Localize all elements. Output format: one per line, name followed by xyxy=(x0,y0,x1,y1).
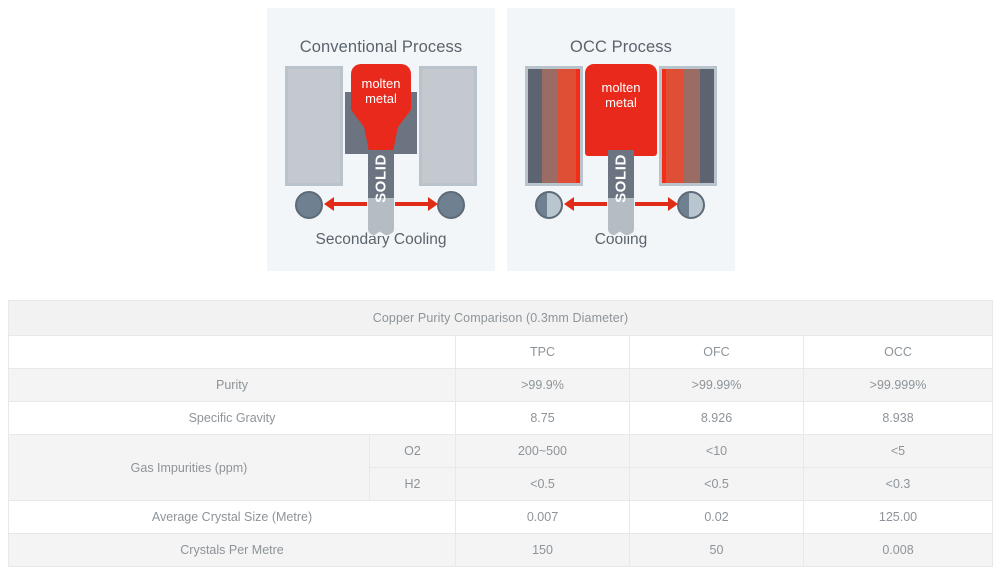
sub-row-label-h2: H2 xyxy=(370,468,456,501)
cell-occ: <5 xyxy=(804,435,993,468)
row-label: Crystals Per Metre xyxy=(9,534,456,567)
cooling-roller-left-icon xyxy=(295,191,323,219)
table-row: Specific Gravity 8.75 8.926 8.938 xyxy=(9,402,993,435)
molten-label-line2: metal xyxy=(605,95,637,110)
molten-metal-pool-occ: molten metal xyxy=(585,64,657,156)
row-label-gas-impurities: Gas Impurities (ppm) xyxy=(9,435,370,501)
arrow-left-icon xyxy=(573,202,607,206)
cell-ofc: >99.99% xyxy=(630,369,804,402)
cell-tpc: <0.5 xyxy=(456,468,630,501)
molten-label-line2: metal xyxy=(365,91,397,106)
column-header-tpc: TPC xyxy=(456,336,630,369)
cell-tpc: 200~500 xyxy=(456,435,630,468)
heated-mold-block-left xyxy=(525,66,583,186)
cell-occ: >99.999% xyxy=(804,369,993,402)
cell-occ: 125.00 xyxy=(804,501,993,534)
crucible-block-right xyxy=(419,66,477,186)
cell-tpc: >99.9% xyxy=(456,369,630,402)
table-row: Gas Impurities (ppm) O2 200~500 <10 <5 xyxy=(9,435,993,468)
molten-label-line1: molten xyxy=(361,76,400,91)
heated-mold-block-right xyxy=(659,66,717,186)
cooling-rollers-conventional xyxy=(267,191,495,225)
molten-label-line1: molten xyxy=(601,80,640,95)
column-header-occ: OCC xyxy=(804,336,993,369)
cell-tpc: 0.007 xyxy=(456,501,630,534)
cell-ofc: 0.02 xyxy=(630,501,804,534)
cooling-rollers-occ xyxy=(507,191,735,225)
row-label: Average Crystal Size (Metre) xyxy=(9,501,456,534)
crucible-block-left xyxy=(285,66,343,186)
cell-tpc: 8.75 xyxy=(456,402,630,435)
cell-occ: 8.938 xyxy=(804,402,993,435)
row-label: Specific Gravity xyxy=(9,402,456,435)
process-diagrams: Conventional Process molten metal SOLID xyxy=(267,8,735,271)
cooling-roller-left-icon xyxy=(535,191,563,219)
diagram-title-conventional: Conventional Process xyxy=(267,38,495,57)
column-header-blank xyxy=(9,336,456,369)
table-body: Purity >99.9% >99.99% >99.999% Specific … xyxy=(9,369,993,567)
molten-metal-label: molten metal xyxy=(351,76,411,106)
cell-ofc: 8.926 xyxy=(630,402,804,435)
diagram-title-occ: OCC Process xyxy=(507,38,735,57)
diagram-card-conventional: Conventional Process molten metal SOLID xyxy=(267,8,495,271)
table-column-header-row: TPC OFC OCC xyxy=(9,336,993,369)
table-row: Purity >99.9% >99.99% >99.999% xyxy=(9,369,993,402)
arrow-left-icon xyxy=(333,202,367,206)
diagram-stage-conventional: molten metal SOLID xyxy=(267,66,495,231)
column-header-ofc: OFC xyxy=(630,336,804,369)
diagram-stage-occ: molten metal SOLID xyxy=(507,66,735,231)
arrow-right-icon xyxy=(395,202,429,206)
molten-metal-label: molten metal xyxy=(585,80,657,110)
table-title: Copper Purity Comparison (0.3mm Diameter… xyxy=(9,301,993,336)
cell-ofc: 50 xyxy=(630,534,804,567)
cooling-roller-right-icon xyxy=(677,191,705,219)
table-title-row: Copper Purity Comparison (0.3mm Diameter… xyxy=(9,301,993,336)
cooling-roller-right-icon xyxy=(437,191,465,219)
cell-ofc: <0.5 xyxy=(630,468,804,501)
sub-row-label-o2: O2 xyxy=(370,435,456,468)
copper-purity-table: Copper Purity Comparison (0.3mm Diameter… xyxy=(8,300,993,567)
table-row: Crystals Per Metre 150 50 0.008 xyxy=(9,534,993,567)
page-root: Conventional Process molten metal SOLID xyxy=(0,0,1000,570)
cell-occ: <0.3 xyxy=(804,468,993,501)
cell-tpc: 150 xyxy=(456,534,630,567)
diagram-card-occ: OCC Process molten metal SOLID xyxy=(507,8,735,271)
cell-occ: 0.008 xyxy=(804,534,993,567)
table-row: Average Crystal Size (Metre) 0.007 0.02 … xyxy=(9,501,993,534)
cell-ofc: <10 xyxy=(630,435,804,468)
row-label: Purity xyxy=(9,369,456,402)
arrow-right-icon xyxy=(635,202,669,206)
